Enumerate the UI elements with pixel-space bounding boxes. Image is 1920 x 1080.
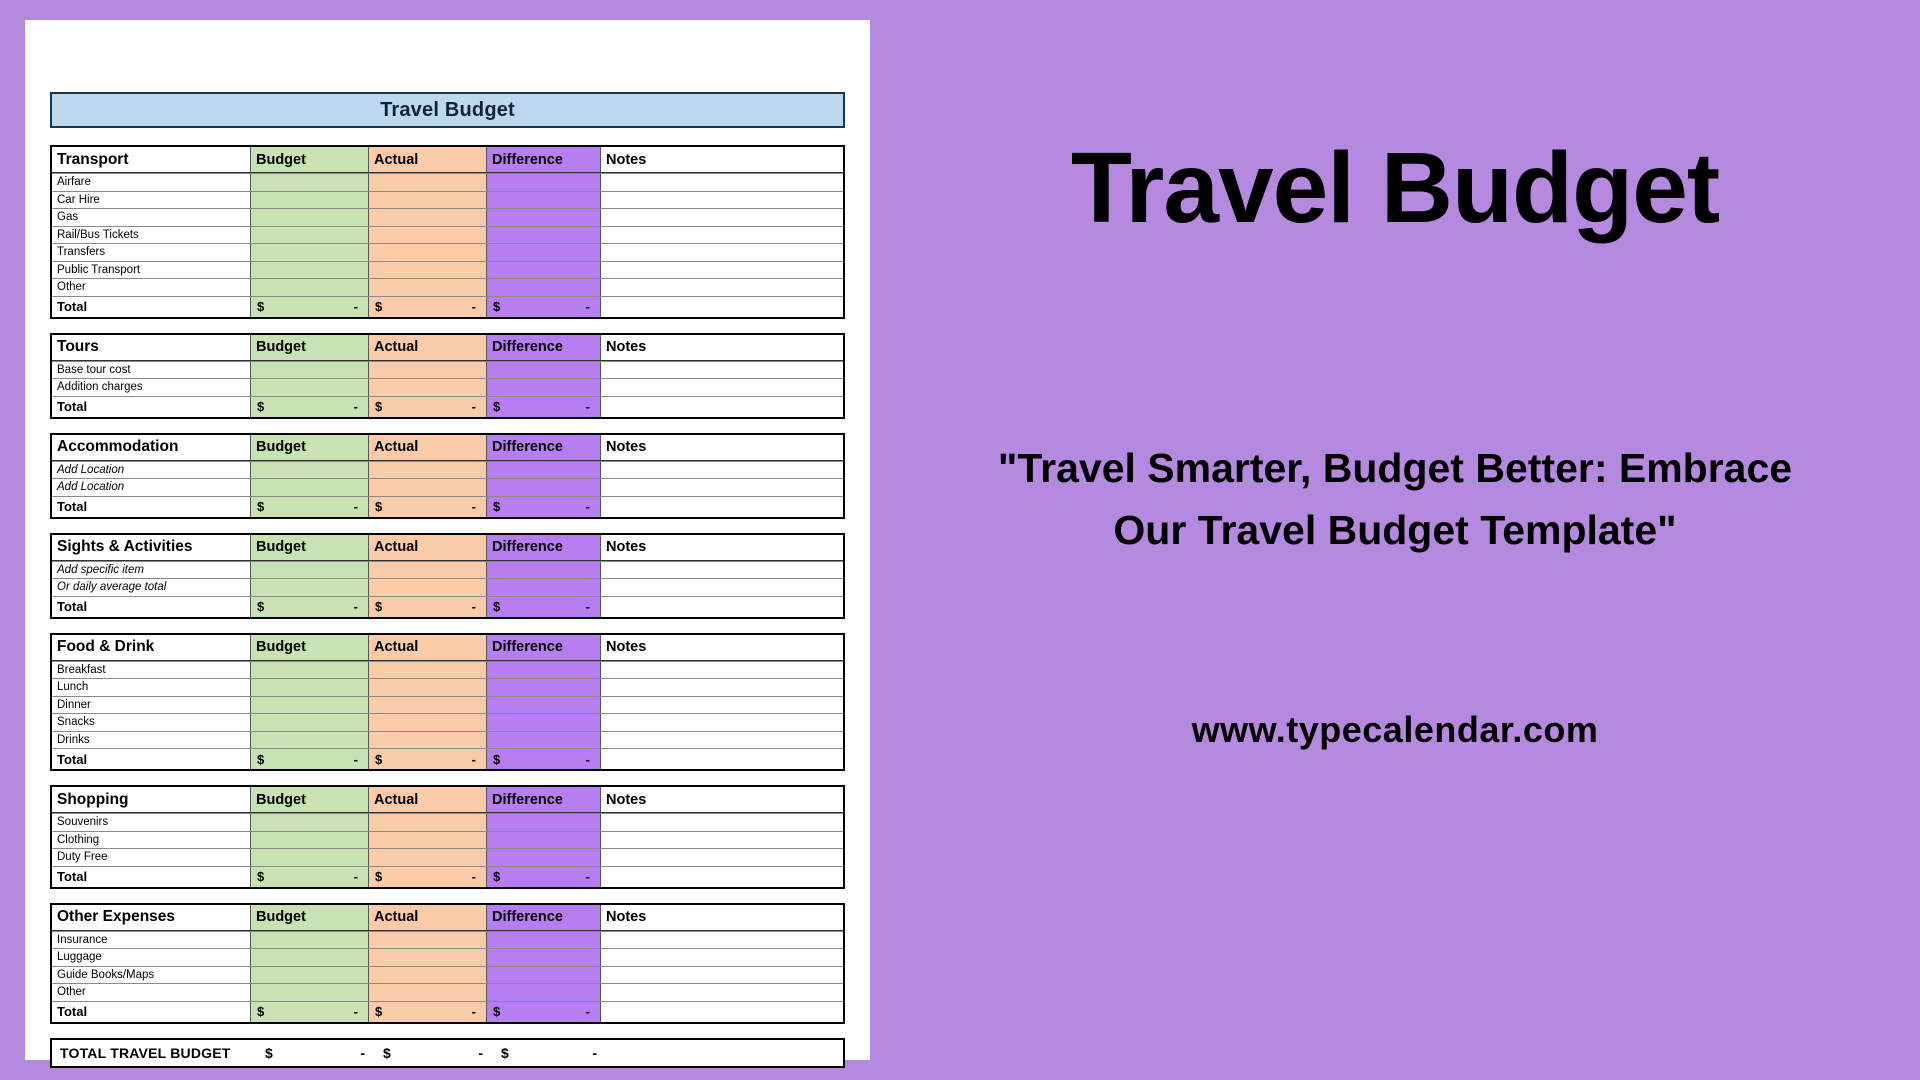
actual-cell[interactable]: [369, 679, 487, 696]
section-total-actual-value: -: [472, 399, 476, 414]
notes-cell[interactable]: [601, 362, 843, 379]
expense-label: Add Location: [52, 462, 251, 479]
expense-row[interactable]: Airfare: [52, 173, 843, 191]
expense-row[interactable]: Addition charges: [52, 378, 843, 396]
expense-row[interactable]: Add Location: [52, 478, 843, 496]
difference-cell[interactable]: [487, 262, 601, 279]
section-total-difference: $-: [487, 297, 601, 317]
expense-row[interactable]: Snacks: [52, 713, 843, 731]
grand-total-difference: $ -: [495, 1045, 609, 1061]
section-title: Other Expenses: [52, 905, 251, 930]
column-header-difference: Difference: [487, 147, 601, 172]
difference-cell[interactable]: [487, 697, 601, 714]
difference-cell[interactable]: [487, 814, 601, 831]
budget-cell[interactable]: [251, 479, 369, 496]
column-header-budget: Budget: [251, 147, 369, 172]
budget-cell[interactable]: [251, 967, 369, 984]
section-total-difference-value: -: [586, 752, 590, 767]
notes-cell[interactable]: [601, 867, 843, 887]
actual-cell[interactable]: [369, 379, 487, 396]
actual-cell[interactable]: [369, 227, 487, 244]
column-header-difference: Difference: [487, 787, 601, 812]
column-header-budget: Budget: [251, 787, 369, 812]
expense-row[interactable]: Souvenirs: [52, 813, 843, 831]
grand-total-actual-value: -: [478, 1045, 483, 1061]
budget-cell[interactable]: [251, 262, 369, 279]
section-header-row: Sights & ActivitiesBudgetActualDifferenc…: [52, 535, 843, 561]
expense-label: Addition charges: [52, 379, 251, 396]
expense-row[interactable]: Car Hire: [52, 191, 843, 209]
notes-cell[interactable]: [601, 832, 843, 849]
expense-row[interactable]: Guide Books/Maps: [52, 966, 843, 984]
difference-cell[interactable]: [487, 174, 601, 191]
notes-cell[interactable]: [601, 932, 843, 949]
sections-container: TransportBudgetActualDifferenceNotesAirf…: [50, 145, 845, 1024]
difference-cell[interactable]: [487, 932, 601, 949]
section-transport: TransportBudgetActualDifferenceNotesAirf…: [50, 145, 845, 319]
difference-cell[interactable]: [487, 949, 601, 966]
actual-cell[interactable]: [369, 192, 487, 209]
currency-symbol: $: [501, 1045, 509, 1061]
expense-row[interactable]: Other: [52, 278, 843, 296]
actual-cell[interactable]: [369, 714, 487, 731]
section-food-drink: Food & DrinkBudgetActualDifferenceNotesB…: [50, 633, 845, 772]
currency-symbol: $: [493, 499, 500, 514]
column-header-difference: Difference: [487, 335, 601, 360]
column-header-notes: Notes: [601, 787, 843, 812]
section-total-budget: $-: [251, 497, 369, 517]
notes-cell[interactable]: [601, 379, 843, 396]
grand-total-budget: $ -: [259, 1045, 377, 1061]
column-header-actual: Actual: [369, 535, 487, 560]
actual-cell[interactable]: [369, 479, 487, 496]
section-total-actual-value: -: [472, 499, 476, 514]
section-other-expenses: Other ExpensesBudgetActualDifferenceNote…: [50, 903, 845, 1024]
expense-row[interactable]: Dinner: [52, 696, 843, 714]
column-header-difference: Difference: [487, 905, 601, 930]
section-total-label: Total: [52, 497, 251, 517]
expense-row[interactable]: Base tour cost: [52, 361, 843, 379]
spreadsheet-content: Travel Budget TransportBudgetActualDiffe…: [50, 92, 845, 1068]
promo-quote: "Travel Smarter, Budget Better: Embrace …: [965, 438, 1825, 561]
expense-label: Transfers: [52, 244, 251, 261]
column-header-notes: Notes: [601, 147, 843, 172]
column-header-budget: Budget: [251, 335, 369, 360]
currency-symbol: $: [493, 869, 500, 884]
actual-cell[interactable]: [369, 462, 487, 479]
budget-cell[interactable]: [251, 227, 369, 244]
section-total-difference: $-: [487, 867, 601, 887]
difference-cell[interactable]: [487, 679, 601, 696]
difference-cell[interactable]: [487, 244, 601, 261]
budget-cell[interactable]: [251, 174, 369, 191]
budget-cell[interactable]: [251, 949, 369, 966]
expense-row[interactable]: Breakfast: [52, 661, 843, 679]
actual-cell[interactable]: [369, 814, 487, 831]
difference-cell[interactable]: [487, 967, 601, 984]
spreadsheet-sheet: Travel Budget TransportBudgetActualDiffe…: [25, 20, 870, 1060]
expense-row[interactable]: Luggage: [52, 948, 843, 966]
expense-row[interactable]: Transfers: [52, 243, 843, 261]
section-total-label: Total: [52, 597, 251, 617]
column-header-budget: Budget: [251, 535, 369, 560]
difference-cell[interactable]: [487, 192, 601, 209]
notes-cell[interactable]: [601, 209, 843, 226]
expense-label: Drinks: [52, 732, 251, 749]
section-total-difference-value: -: [586, 499, 590, 514]
notes-cell[interactable]: [601, 192, 843, 209]
section-total-actual: $-: [369, 497, 487, 517]
section-total-label: Total: [52, 1002, 251, 1022]
section-header-row: Other ExpensesBudgetActualDifferenceNote…: [52, 905, 843, 931]
section-total-difference-value: -: [586, 599, 590, 614]
budget-cell[interactable]: [251, 932, 369, 949]
section-total-row: Total$-$-$-: [52, 748, 843, 769]
column-header-difference: Difference: [487, 635, 601, 660]
notes-cell[interactable]: [601, 462, 843, 479]
section-title: Shopping: [52, 787, 251, 812]
difference-cell[interactable]: [487, 462, 601, 479]
actual-cell[interactable]: [369, 662, 487, 679]
expense-label: Airfare: [52, 174, 251, 191]
column-header-notes: Notes: [601, 535, 843, 560]
section-total-actual: $-: [369, 397, 487, 417]
column-header-actual: Actual: [369, 335, 487, 360]
section-total-actual-value: -: [472, 752, 476, 767]
actual-cell[interactable]: [369, 362, 487, 379]
promo-url: www.typecalendar.com: [1192, 709, 1599, 751]
expense-row[interactable]: Clothing: [52, 831, 843, 849]
column-header-difference: Difference: [487, 535, 601, 560]
difference-cell[interactable]: [487, 579, 601, 596]
budget-cell[interactable]: [251, 679, 369, 696]
notes-cell[interactable]: [601, 579, 843, 596]
budget-cell[interactable]: [251, 984, 369, 1001]
expense-row[interactable]: Add Location: [52, 461, 843, 479]
budget-cell[interactable]: [251, 562, 369, 579]
section-total-difference: $-: [487, 1002, 601, 1022]
budget-cell[interactable]: [251, 209, 369, 226]
promo-panel: Travel Budget "Travel Smarter, Budget Be…: [870, 0, 1920, 1080]
section-total-budget: $-: [251, 397, 369, 417]
actual-cell[interactable]: [369, 732, 487, 749]
notes-cell[interactable]: [601, 262, 843, 279]
notes-cell[interactable]: [601, 984, 843, 1001]
section-total-budget-value: -: [354, 299, 358, 314]
difference-cell[interactable]: [487, 227, 601, 244]
section-header-row: AccommodationBudgetActualDifferenceNotes: [52, 435, 843, 461]
section-accommodation: AccommodationBudgetActualDifferenceNotes…: [50, 433, 845, 519]
expense-label: Lunch: [52, 679, 251, 696]
section-total-row: Total$-$-$-: [52, 596, 843, 617]
expense-row[interactable]: Gas: [52, 208, 843, 226]
section-total-difference-value: -: [586, 869, 590, 884]
actual-cell[interactable]: [369, 932, 487, 949]
section-total-budget-value: -: [354, 599, 358, 614]
actual-cell[interactable]: [369, 967, 487, 984]
section-total-difference: $-: [487, 497, 601, 517]
section-total-budget-value: -: [354, 869, 358, 884]
notes-cell[interactable]: [601, 662, 843, 679]
expense-label: Clothing: [52, 832, 251, 849]
section-title: Food & Drink: [52, 635, 251, 660]
section-total-label: Total: [52, 297, 251, 317]
actual-cell[interactable]: [369, 949, 487, 966]
budget-cell[interactable]: [251, 362, 369, 379]
currency-symbol: $: [257, 499, 264, 514]
section-total-difference: $-: [487, 749, 601, 769]
expense-row[interactable]: Lunch: [52, 678, 843, 696]
grand-total-row: TOTAL TRAVEL BUDGET $ - $ - $ -: [50, 1038, 845, 1068]
grand-total-difference-value: -: [592, 1045, 597, 1061]
budget-cell[interactable]: [251, 244, 369, 261]
expense-row[interactable]: Add specific item: [52, 561, 843, 579]
actual-cell[interactable]: [369, 562, 487, 579]
actual-cell[interactable]: [369, 279, 487, 296]
section-total-budget-value: -: [354, 1004, 358, 1019]
budget-cell[interactable]: [251, 579, 369, 596]
section-title: Tours: [52, 335, 251, 360]
column-header-notes: Notes: [601, 905, 843, 930]
section-total-budget: $-: [251, 297, 369, 317]
section-sights-activities: Sights & ActivitiesBudgetActualDifferenc…: [50, 533, 845, 619]
expense-row[interactable]: Drinks: [52, 731, 843, 749]
actual-cell[interactable]: [369, 174, 487, 191]
section-total-label: Total: [52, 867, 251, 887]
currency-symbol: $: [257, 399, 264, 414]
section-header-row: Food & DrinkBudgetActualDifferenceNotes: [52, 635, 843, 661]
currency-symbol: $: [375, 869, 382, 884]
difference-cell[interactable]: [487, 714, 601, 731]
budget-cell[interactable]: [251, 849, 369, 866]
poster-canvas: Travel Budget TransportBudgetActualDiffe…: [0, 0, 1920, 1080]
section-total-actual: $-: [369, 597, 487, 617]
budget-cell[interactable]: [251, 814, 369, 831]
currency-symbol: $: [375, 499, 382, 514]
section-total-actual: $-: [369, 749, 487, 769]
notes-cell[interactable]: [601, 749, 843, 769]
notes-cell[interactable]: [601, 597, 843, 617]
expense-label: Guide Books/Maps: [52, 967, 251, 984]
difference-cell[interactable]: [487, 562, 601, 579]
expense-label: Duty Free: [52, 849, 251, 866]
budget-cell[interactable]: [251, 279, 369, 296]
section-header-row: ToursBudgetActualDifferenceNotes: [52, 335, 843, 361]
actual-cell[interactable]: [369, 579, 487, 596]
grand-total-label: TOTAL TRAVEL BUDGET: [52, 1045, 259, 1061]
currency-symbol: $: [257, 599, 264, 614]
column-header-actual: Actual: [369, 635, 487, 660]
expense-label: Or daily average total: [52, 579, 251, 596]
currency-symbol: $: [383, 1045, 391, 1061]
difference-cell[interactable]: [487, 362, 601, 379]
budget-cell[interactable]: [251, 697, 369, 714]
column-header-actual: Actual: [369, 147, 487, 172]
column-header-notes: Notes: [601, 635, 843, 660]
notes-cell[interactable]: [601, 714, 843, 731]
section-total-difference: $-: [487, 597, 601, 617]
sheet-title: Travel Budget: [380, 99, 515, 122]
budget-cell[interactable]: [251, 192, 369, 209]
expense-label: Snacks: [52, 714, 251, 731]
column-header-budget: Budget: [251, 435, 369, 460]
section-total-row: Total$-$-$-: [52, 866, 843, 887]
budget-cell[interactable]: [251, 732, 369, 749]
notes-cell[interactable]: [601, 814, 843, 831]
column-header-actual: Actual: [369, 787, 487, 812]
currency-symbol: $: [257, 869, 264, 884]
notes-cell[interactable]: [601, 244, 843, 261]
promo-heading: Travel Budget: [1071, 138, 1719, 238]
expense-label: Public Transport: [52, 262, 251, 279]
actual-cell[interactable]: [369, 262, 487, 279]
expense-row[interactable]: Rail/Bus Tickets: [52, 226, 843, 244]
section-total-difference-value: -: [586, 1004, 590, 1019]
notes-cell[interactable]: [601, 227, 843, 244]
budget-cell[interactable]: [251, 714, 369, 731]
notes-cell[interactable]: [601, 279, 843, 296]
grand-total-budget-value: -: [360, 1045, 365, 1061]
expense-label: Other: [52, 279, 251, 296]
notes-cell[interactable]: [601, 1002, 843, 1022]
budget-cell[interactable]: [251, 462, 369, 479]
difference-cell[interactable]: [487, 662, 601, 679]
column-header-difference: Difference: [487, 435, 601, 460]
section-total-difference-value: -: [586, 299, 590, 314]
actual-cell[interactable]: [369, 832, 487, 849]
section-total-actual: $-: [369, 297, 487, 317]
actual-cell[interactable]: [369, 849, 487, 866]
notes-cell[interactable]: [601, 497, 843, 517]
notes-cell[interactable]: [601, 679, 843, 696]
section-total-actual-value: -: [472, 869, 476, 884]
section-shopping: ShoppingBudgetActualDifferenceNotesSouve…: [50, 785, 845, 889]
notes-cell[interactable]: [601, 697, 843, 714]
currency-symbol: $: [493, 399, 500, 414]
notes-cell[interactable]: [601, 849, 843, 866]
section-total-budget: $-: [251, 867, 369, 887]
section-total-budget: $-: [251, 749, 369, 769]
section-total-actual: $-: [369, 1002, 487, 1022]
expense-label: Souvenirs: [52, 814, 251, 831]
section-tours: ToursBudgetActualDifferenceNotesBase tou…: [50, 333, 845, 419]
column-header-notes: Notes: [601, 435, 843, 460]
difference-cell[interactable]: [487, 984, 601, 1001]
section-total-actual-value: -: [472, 299, 476, 314]
expense-row[interactable]: Public Transport: [52, 261, 843, 279]
section-total-row: Total$-$-$-: [52, 396, 843, 417]
currency-symbol: $: [493, 599, 500, 614]
difference-cell[interactable]: [487, 279, 601, 296]
difference-cell[interactable]: [487, 209, 601, 226]
budget-cell[interactable]: [251, 662, 369, 679]
notes-cell[interactable]: [601, 297, 843, 317]
difference-cell[interactable]: [487, 849, 601, 866]
notes-cell[interactable]: [601, 397, 843, 417]
column-header-notes: Notes: [601, 335, 843, 360]
expense-label: Base tour cost: [52, 362, 251, 379]
grand-total-actual: $ -: [377, 1045, 495, 1061]
currency-symbol: $: [493, 299, 500, 314]
currency-symbol: $: [265, 1045, 273, 1061]
expense-label: Car Hire: [52, 192, 251, 209]
currency-symbol: $: [375, 299, 382, 314]
actual-cell[interactable]: [369, 244, 487, 261]
actual-cell[interactable]: [369, 697, 487, 714]
actual-cell[interactable]: [369, 984, 487, 1001]
section-total-difference: $-: [487, 397, 601, 417]
expense-label: Add specific item: [52, 562, 251, 579]
currency-symbol: $: [375, 752, 382, 767]
difference-cell[interactable]: [487, 379, 601, 396]
section-title: Accommodation: [52, 435, 251, 460]
section-total-row: Total$-$-$-: [52, 296, 843, 317]
section-title: Sights & Activities: [52, 535, 251, 560]
column-header-actual: Actual: [369, 435, 487, 460]
currency-symbol: $: [493, 752, 500, 767]
notes-cell[interactable]: [601, 479, 843, 496]
section-total-row: Total$-$-$-: [52, 496, 843, 517]
column-header-actual: Actual: [369, 905, 487, 930]
notes-cell[interactable]: [601, 174, 843, 191]
expense-row[interactable]: Other: [52, 983, 843, 1001]
notes-cell[interactable]: [601, 562, 843, 579]
section-total-budget-value: -: [354, 399, 358, 414]
expense-row[interactable]: Duty Free: [52, 848, 843, 866]
section-title: Transport: [52, 147, 251, 172]
notes-cell[interactable]: [601, 732, 843, 749]
section-total-budget-value: -: [354, 752, 358, 767]
expense-row[interactable]: Or daily average total: [52, 578, 843, 596]
sheet-title-bar: Travel Budget: [50, 92, 845, 128]
expense-label: Breakfast: [52, 662, 251, 679]
currency-symbol: $: [257, 752, 264, 767]
section-total-budget: $-: [251, 597, 369, 617]
expense-label: Insurance: [52, 932, 251, 949]
notes-cell[interactable]: [601, 967, 843, 984]
currency-symbol: $: [375, 599, 382, 614]
budget-cell[interactable]: [251, 379, 369, 396]
section-total-actual-value: -: [472, 599, 476, 614]
expense-label: Dinner: [52, 697, 251, 714]
difference-cell[interactable]: [487, 732, 601, 749]
currency-symbol: $: [257, 1004, 264, 1019]
section-total-row: Total$-$-$-: [52, 1001, 843, 1022]
currency-symbol: $: [375, 399, 382, 414]
expense-row[interactable]: Insurance: [52, 931, 843, 949]
section-total-label: Total: [52, 749, 251, 769]
column-header-budget: Budget: [251, 905, 369, 930]
expense-label: Other: [52, 984, 251, 1001]
budget-cell[interactable]: [251, 832, 369, 849]
section-header-row: TransportBudgetActualDifferenceNotes: [52, 147, 843, 173]
section-total-difference-value: -: [586, 399, 590, 414]
difference-cell[interactable]: [487, 479, 601, 496]
expense-label: Add Location: [52, 479, 251, 496]
actual-cell[interactable]: [369, 209, 487, 226]
difference-cell[interactable]: [487, 832, 601, 849]
expense-label: Rail/Bus Tickets: [52, 227, 251, 244]
currency-symbol: $: [493, 1004, 500, 1019]
currency-symbol: $: [257, 299, 264, 314]
notes-cell[interactable]: [601, 949, 843, 966]
expense-label: Luggage: [52, 949, 251, 966]
currency-symbol: $: [375, 1004, 382, 1019]
section-total-actual: $-: [369, 867, 487, 887]
section-header-row: ShoppingBudgetActualDifferenceNotes: [52, 787, 843, 813]
section-total-actual-value: -: [472, 1004, 476, 1019]
column-header-budget: Budget: [251, 635, 369, 660]
